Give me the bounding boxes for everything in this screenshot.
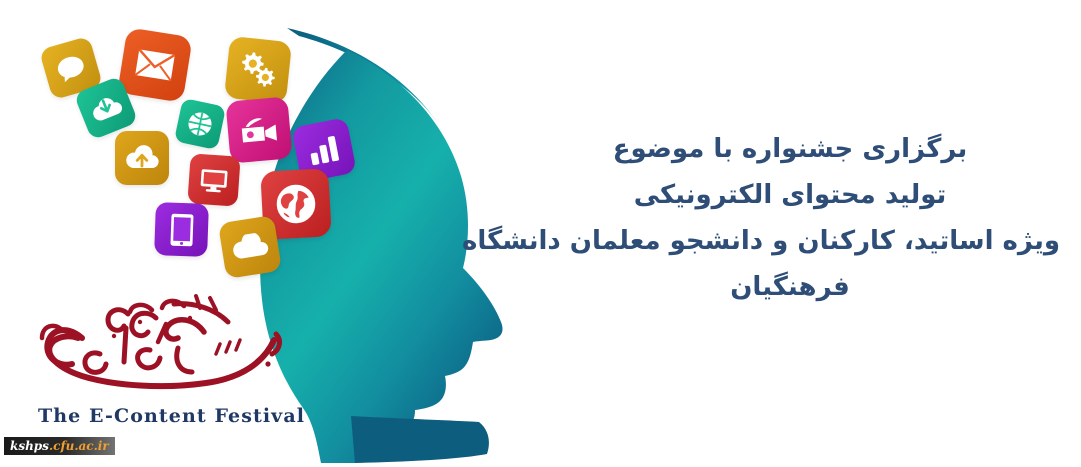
festival-calligraphy-logo xyxy=(28,288,298,396)
watermark-site-name: kshps xyxy=(10,437,49,455)
watermark-domain: .cfu.ac.ir xyxy=(49,437,109,455)
cloud-icon xyxy=(218,215,282,279)
headline-line-2: تولید محتوای الکترونیکی xyxy=(520,172,1060,218)
headline-block: برگزاری جشنواره با موضوع تولید محتوای ال… xyxy=(520,126,1060,310)
video-camera-icon xyxy=(225,96,292,163)
site-watermark: kshps.cfu.ac.ir xyxy=(4,437,115,455)
gears-icon xyxy=(224,36,292,104)
monitor-icon xyxy=(187,153,240,206)
tablet-icon xyxy=(154,202,209,257)
econtent-festival-banner: The E-Content Festival برگزاری جشنواره ب… xyxy=(0,0,1081,467)
headline-line-1: برگزاری جشنواره با موضوع xyxy=(520,126,1060,172)
cloud-upload-icon xyxy=(115,131,169,185)
headline-line-3: ویژه اساتید، کارکنان و دانشجو معلمان دان… xyxy=(520,218,1060,264)
festival-english-title: The E-Content Festival xyxy=(38,405,298,427)
mail-envelope-icon xyxy=(117,27,193,103)
headline-line-4: فرهنگیان xyxy=(520,264,1060,310)
basketball-icon xyxy=(174,98,226,150)
